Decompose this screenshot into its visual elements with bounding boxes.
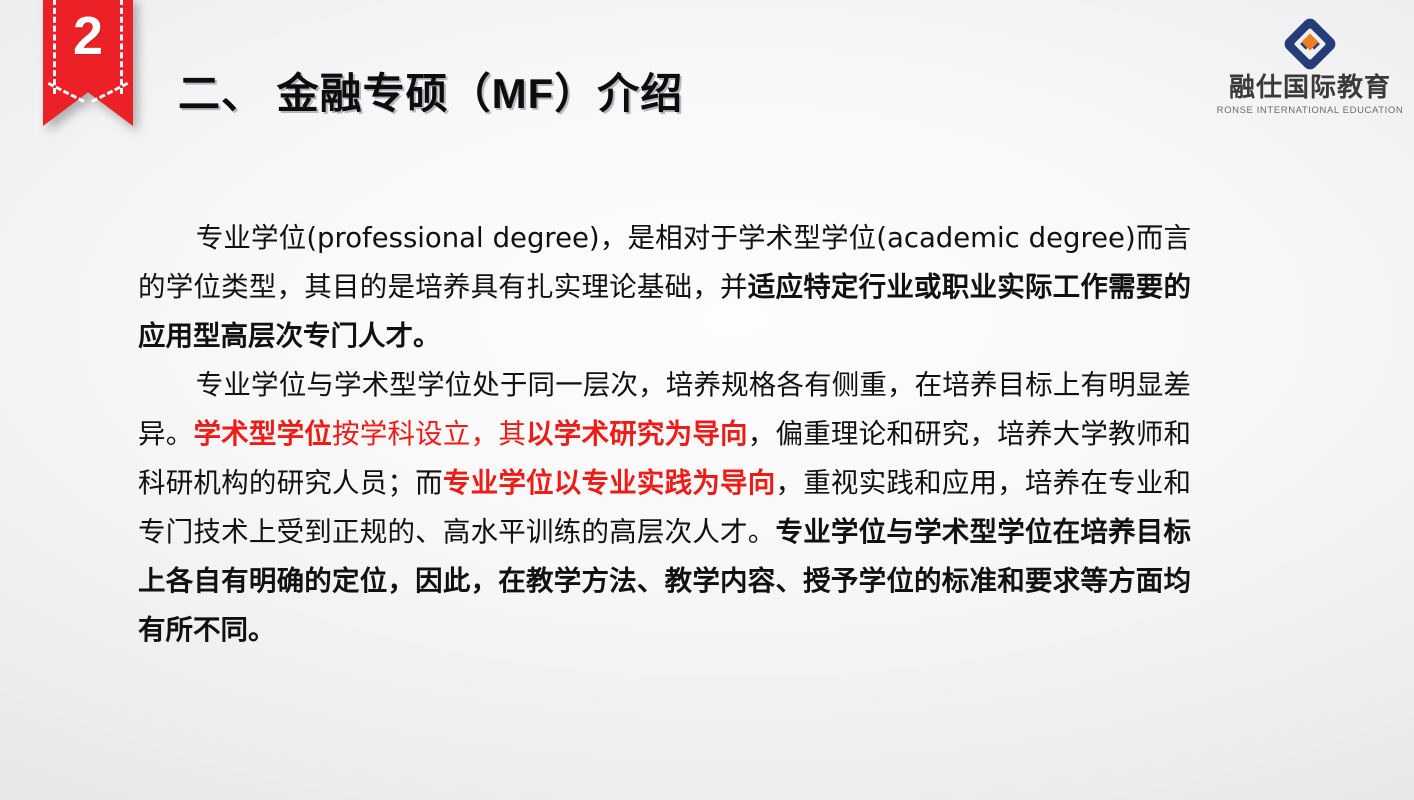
p2-run-red-bold-1: 学术型学位 — [193, 418, 332, 450]
p2-run-red-bold-2: 以学术研究为导向 — [526, 418, 748, 450]
brand-name-en: RONSE INTERNATIONAL EDUCATION — [1214, 105, 1406, 116]
section-number-ribbon: 2 — [43, 0, 133, 126]
ribbon-chevron-left — [48, 82, 85, 103]
slide-canvas: 2 二、 金融专硕（MF）介绍 融仕国际教育 RONSE INTERNATION… — [0, 0, 1414, 800]
paragraph-2: 专业学位与学术型学位处于同一层次，培养规格各有侧重，在培养目标上有明显差异。学术… — [138, 361, 1191, 655]
p2-run-red-1: 按学科设立，其 — [332, 418, 526, 450]
paragraph-1: 专业学位(professional degree)，是相对于学术型学位(acad… — [138, 214, 1191, 361]
body-content: 专业学位(professional degree)，是相对于学术型学位(acad… — [138, 214, 1191, 655]
page-title: 二、 金融专硕（MF）介绍 — [178, 60, 683, 121]
ribbon-chevron-right — [91, 82, 128, 103]
brand-logo: 融仕国际教育 RONSE INTERNATIONAL EDUCATION — [1214, 14, 1406, 126]
brand-name-cn: 融仕国际教育 — [1214, 74, 1406, 101]
ribbon-dashed-chevron — [52, 82, 124, 104]
ronse-diamond-logo-icon — [1277, 14, 1343, 74]
p2-run-red-bold-3: 专业学位以专业实践为导向 — [443, 467, 776, 499]
section-number: 2 — [43, 9, 133, 63]
